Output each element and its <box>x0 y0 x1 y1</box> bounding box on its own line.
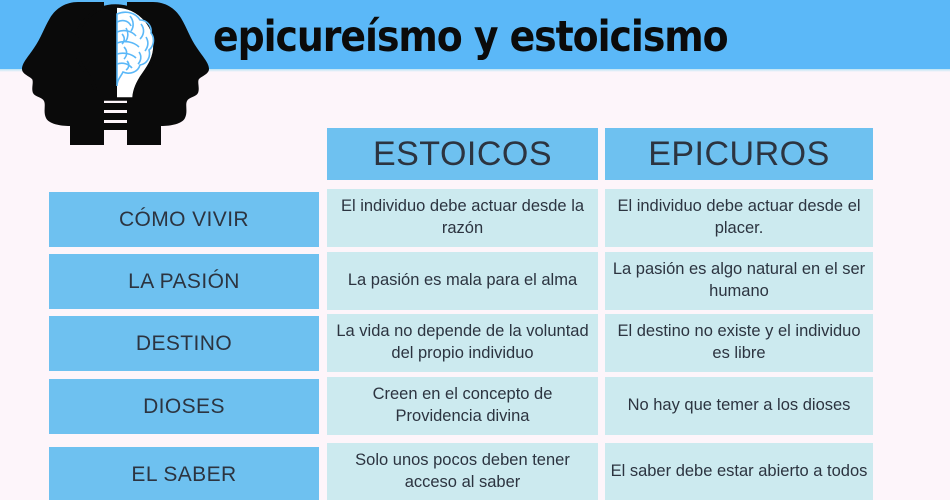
cell-epicuros-destino: El destino no existe y el individuo es l… <box>605 314 873 372</box>
column-header-epicuros: EPICUROS <box>605 128 873 180</box>
cell-text: El destino no existe y el individuo es l… <box>610 321 868 365</box>
cell-text: La pasión es mala para el alma <box>348 270 577 292</box>
row-label-el-saber: EL SABER <box>49 447 319 500</box>
cell-epicuros-como-vivir: El individuo debe actuar desde el placer… <box>605 189 873 247</box>
row-label-destino: DESTINO <box>49 316 319 371</box>
cell-epicuros-dioses: No hay que temer a los dioses <box>605 377 873 435</box>
row-label-la-pasion: LA PASIÓN <box>49 254 319 309</box>
cell-text: El saber debe estar abierto a todos <box>611 461 868 483</box>
row-label-como-vivir: CÓMO VIVIR <box>49 192 319 247</box>
cell-text: El individuo debe actuar desde la razón <box>332 196 593 240</box>
column-header-estoicos: ESTOICOS <box>327 128 598 180</box>
cell-text: El individuo debe actuar desde el placer… <box>610 196 868 240</box>
comparison-table: ESTOICOS EPICUROS CÓMO VIVIR El individu… <box>0 0 950 500</box>
cell-epicuros-el-saber: El saber debe estar abierto a todos <box>605 443 873 500</box>
cell-text: Creen en el concepto de Providencia divi… <box>332 384 593 428</box>
cell-text: La pasión es algo natural en el ser huma… <box>610 259 868 303</box>
cell-text: La vida no depende de la voluntad del pr… <box>332 321 593 365</box>
cell-text: Solo unos pocos deben tener acceso al sa… <box>332 450 593 494</box>
cell-text: No hay que temer a los dioses <box>628 395 851 417</box>
cell-estoicos-destino: La vida no depende de la voluntad del pr… <box>327 314 598 372</box>
cell-estoicos-el-saber: Solo unos pocos deben tener acceso al sa… <box>327 443 598 500</box>
cell-estoicos-como-vivir: El individuo debe actuar desde la razón <box>327 189 598 247</box>
cell-estoicos-la-pasion: La pasión es mala para el alma <box>327 252 598 310</box>
cell-estoicos-dioses: Creen en el concepto de Providencia divi… <box>327 377 598 435</box>
cell-epicuros-la-pasion: La pasión es algo natural en el ser huma… <box>605 252 873 310</box>
comparison-infographic: epicureísmo y estoicismo ESTOICOS EPICUR… <box>0 0 950 500</box>
row-label-dioses: DIOSES <box>49 379 319 434</box>
